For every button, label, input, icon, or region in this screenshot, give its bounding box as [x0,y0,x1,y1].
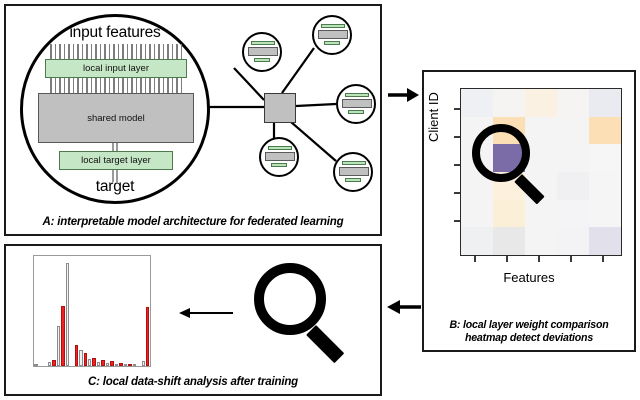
feature-wire [149,78,151,94]
heatmap-cell-r2-c4 [589,144,621,172]
arrow-left-icon-b-to-c [386,294,422,320]
feature-wire [50,44,52,60]
feature-wire [104,44,106,60]
heatmap-cell-r5-c2 [525,227,557,255]
feature-wire [64,78,66,94]
feature-wire [104,78,106,94]
feature-wire [68,78,70,94]
histogram-bar [61,306,64,366]
heatmap-cell-r5-c1 [493,227,525,255]
heatmap-cell-r4-c1 [493,200,525,228]
feature-wire [131,78,133,94]
client-local-layer [348,110,364,114]
arrow-right-icon-a-to-b [386,82,420,108]
feature-wire [77,44,79,60]
feature-wire [154,44,156,60]
feature-wire [64,44,66,60]
heatmap-cell-r4-c2 [525,200,557,228]
target-wire [116,143,118,151]
client-node-1[interactable] [242,32,282,72]
heatmap-cell-r1-c4 [589,117,621,145]
feature-wire [176,44,178,60]
client-node-2[interactable] [312,15,352,55]
heatmap-cell-r5-c3 [557,227,589,255]
panel-c-histogram: C: local data-shift analysis after train… [4,244,382,396]
x-tick [474,256,476,262]
histogram-bar [52,360,55,366]
heatmap-cell-r1-c3 [557,117,589,145]
feature-wire [122,44,124,60]
histogram-bar [110,361,113,366]
feature-wire [136,44,138,60]
feature-wire [95,44,97,60]
feature-wire [113,78,115,94]
x-tick [570,256,572,262]
panel-a-caption: A: interpretable model architecture for … [6,216,380,228]
panel-b-caption-line2: heatmap detect deviations [424,332,634,345]
server-aggregator-node [264,93,296,123]
feature-wire [118,44,120,60]
histogram-bar [79,350,82,366]
histogram-bar [119,363,122,366]
client-local-layer [271,163,287,167]
panel-b-heatmap: Client ID Features B: local layer weight… [422,70,636,352]
histogram-bar [48,362,51,366]
input-feature-wires-bottom [50,78,182,94]
feature-wire [158,78,160,94]
histogram-bar [84,353,87,366]
feature-wire [136,78,138,94]
histogram-bar [88,359,91,366]
heatmap-cell-r0-c4 [589,89,621,117]
feature-wire [55,44,57,60]
feature-wire [86,44,88,60]
x-tick [538,256,540,262]
histogram-plot[interactable] [33,255,151,367]
heatmap-cell-r5-c0 [461,227,493,255]
feature-wire [172,78,174,94]
panel-b-caption: B: local layer weight comparison heatmap… [424,319,634,345]
feature-wire [176,78,178,94]
figure-root: input features local input layer shared … [0,0,640,400]
feature-wire [181,44,183,60]
feature-wire [68,44,70,60]
client-local-layer [251,41,275,45]
heatmap-cell-r2-c3 [557,144,589,172]
feature-wire [167,44,169,60]
feature-wire [127,44,129,60]
magnifying-glass-icon-heatmap [472,124,544,196]
histogram-bar [128,364,131,366]
histogram-bar [66,263,69,366]
feature-wire [100,78,102,94]
client-local-layer [345,178,361,182]
panel-a-architecture: input features local input layer shared … [4,4,382,236]
panel-c-caption: C: local data-shift analysis after train… [6,376,380,388]
x-tick [602,256,604,262]
histogram-bar [106,363,109,366]
feature-wire [86,78,88,94]
heatmap-cell-r5-c4 [589,227,621,255]
heatmap-cell-r0-c2 [525,89,557,117]
histogram-bar [115,364,118,366]
histogram-bar [133,364,136,366]
x-tick [506,256,508,262]
feature-wire [145,44,147,60]
histogram-bar [97,362,100,366]
target-label: target [20,178,210,196]
input-feature-wires-top [50,44,182,60]
feature-wire [172,44,174,60]
heatmap-cell-r0-c0 [461,89,493,117]
feature-wire [59,44,61,60]
target-wire [112,143,114,151]
feature-wire [181,78,183,94]
feature-wire [154,78,156,94]
client-shared-model [342,99,372,108]
feature-wire [163,78,165,94]
feature-wire [100,44,102,60]
feature-wire [163,44,165,60]
feature-wire [73,78,75,94]
feature-wire [77,78,79,94]
local-target-layer-box: local target layer [59,151,173,170]
histogram-bar [57,326,60,366]
feature-wire [82,44,84,60]
client-shared-model [339,167,369,176]
histogram-bar [142,361,145,366]
histogram-bar [124,364,127,366]
feature-wire [131,44,133,60]
feature-wire [118,78,120,94]
client-node-3[interactable] [336,84,376,124]
feature-wire [82,78,84,94]
feature-wire [109,78,111,94]
histogram-bar [146,307,149,366]
heatmap-cell-r4-c3 [557,200,589,228]
feature-wire [140,78,142,94]
feature-wire [167,78,169,94]
panel-b-caption-line1: B: local layer weight comparison [424,319,634,332]
client-local-layer [321,24,345,28]
heatmap-y-axis-label: Client ID [426,92,441,142]
feature-wire [127,78,129,94]
shared-model-box: shared model [38,93,194,143]
client-local-layer [268,146,292,150]
heatmap-x-axis-label: Features [424,270,634,285]
heatmap-cell-r0-c3 [557,89,589,117]
feature-wire [50,78,52,94]
histogram-bar [101,360,104,366]
client-shared-model [248,47,278,56]
client-local-layer [345,93,369,97]
feature-wire [109,44,111,60]
heatmap-cell-r0-c1 [493,89,525,117]
client-node-5[interactable] [333,152,373,192]
client-local-layer [324,41,340,45]
feature-wire [149,44,151,60]
magnifying-glass-icon-histogram [254,263,354,363]
heatmap-cell-r4-c4 [589,200,621,228]
client-local-layer [254,58,270,62]
feature-wire [158,44,160,60]
histogram-bar [92,358,95,366]
heatmap-cell-r3-c3 [557,172,589,200]
client-node-4[interactable] [259,137,299,177]
feature-wire [73,44,75,60]
histogram-bar [75,345,78,366]
feature-wire [113,44,115,60]
feature-wire [145,78,147,94]
heatmap-cell-r3-c4 [589,172,621,200]
feature-wire [91,78,93,94]
feature-wire [55,78,57,94]
histogram-bar [34,364,37,366]
heatmap-cell-r4-c0 [461,200,493,228]
feature-wire [59,78,61,94]
feature-wire [91,44,93,60]
feature-wire [140,44,142,60]
input-features-label: input features [20,24,210,42]
local-input-layer-box: local input layer [45,59,187,78]
feature-wire [122,78,124,94]
feature-wire [95,78,97,94]
client-local-layer [342,161,366,165]
client-shared-model [265,152,295,161]
arrow-left-icon-mag-to-hist [178,302,234,324]
client-shared-model [318,30,348,39]
